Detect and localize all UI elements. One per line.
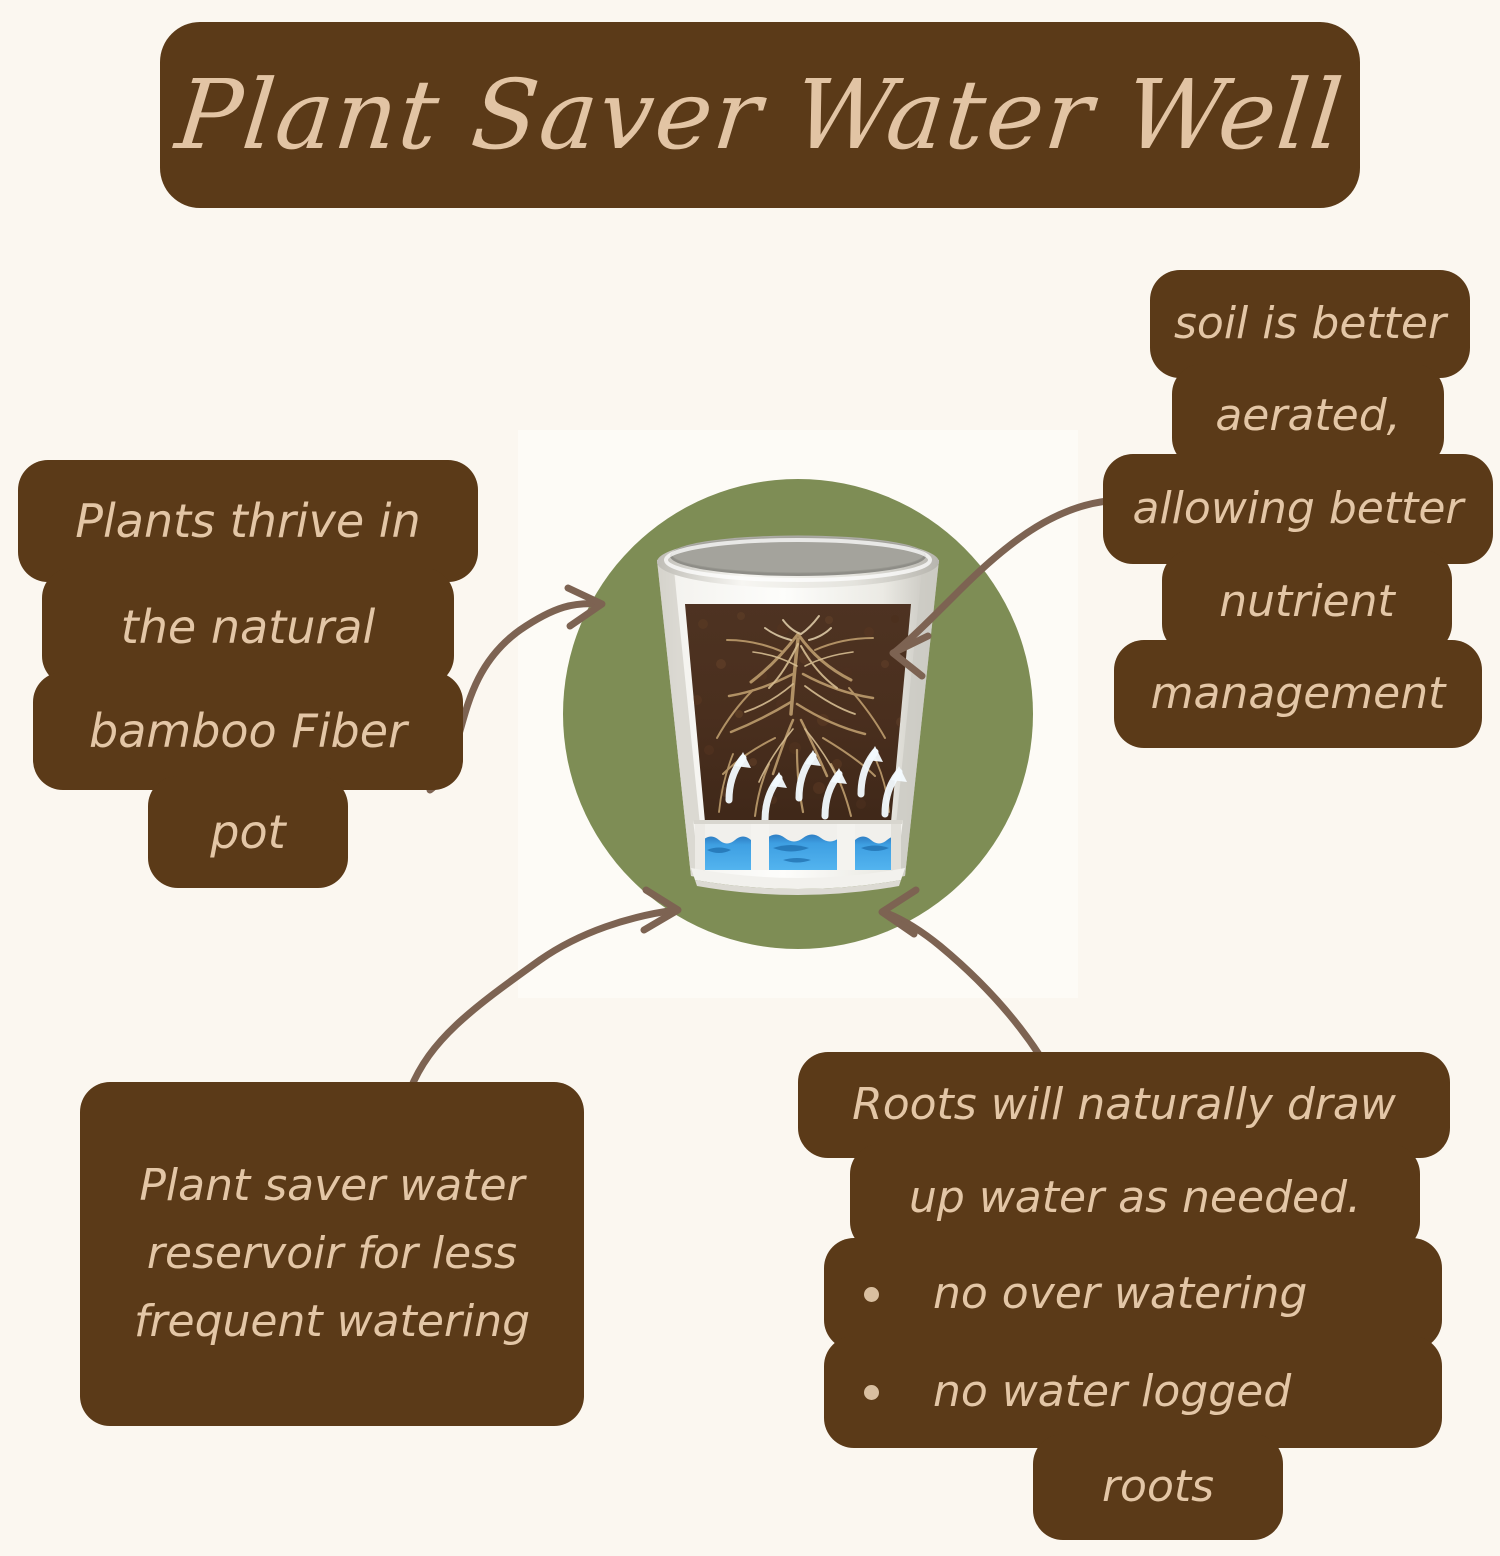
callout-line: pot xyxy=(148,776,348,888)
callout-line: roots xyxy=(1033,1434,1283,1540)
pot-svg xyxy=(633,524,963,904)
plants-thrive-callout: Plants thrive in the natural bamboo Fibe… xyxy=(18,460,478,888)
callout-bullet-item: no over watering xyxy=(824,1238,1442,1350)
callout-line: bamboo Fiber xyxy=(33,672,463,790)
callout-line: nutrient xyxy=(1162,550,1452,654)
infographic-page: Plant Saver Water Well xyxy=(0,0,1500,1556)
callout-line: Plant saver water xyxy=(139,1152,524,1220)
roots-draw-water-callout: Roots will naturally draw up water as ne… xyxy=(798,1052,1450,1540)
callout-line: frequent watering xyxy=(134,1288,530,1356)
bullet-dot-icon xyxy=(864,1385,879,1400)
bullet-label: no over watering xyxy=(933,1271,1307,1317)
title-banner: Plant Saver Water Well xyxy=(160,22,1360,208)
water-reservoir-callout: Plant saver water reservoir for less fre… xyxy=(80,1082,584,1426)
bullet-label: no water logged xyxy=(933,1369,1291,1415)
callout-line: management xyxy=(1114,640,1482,748)
cutaway-pot xyxy=(633,524,963,904)
page-title: Plant Saver Water Well xyxy=(172,67,1348,163)
callout-line: soil is better xyxy=(1150,270,1470,378)
callout-line: allowing better xyxy=(1103,454,1493,564)
callout-line: aerated, xyxy=(1172,364,1444,468)
callout-line: the natural xyxy=(42,568,454,686)
soil-aeration-callout: soil is better aerated, allowing better … xyxy=(1098,270,1498,748)
callout-bullet-item: no water logged xyxy=(824,1336,1442,1448)
plant-saver-pot-cutaway xyxy=(518,430,1078,998)
callout-line: reservoir for less xyxy=(147,1220,517,1288)
callout-line: Plants thrive in xyxy=(18,460,478,582)
water-reservoir xyxy=(695,824,903,870)
callout-line: Roots will naturally draw xyxy=(798,1052,1450,1158)
bullet-dot-icon xyxy=(864,1287,879,1302)
callout-line: up water as needed. xyxy=(850,1144,1420,1252)
